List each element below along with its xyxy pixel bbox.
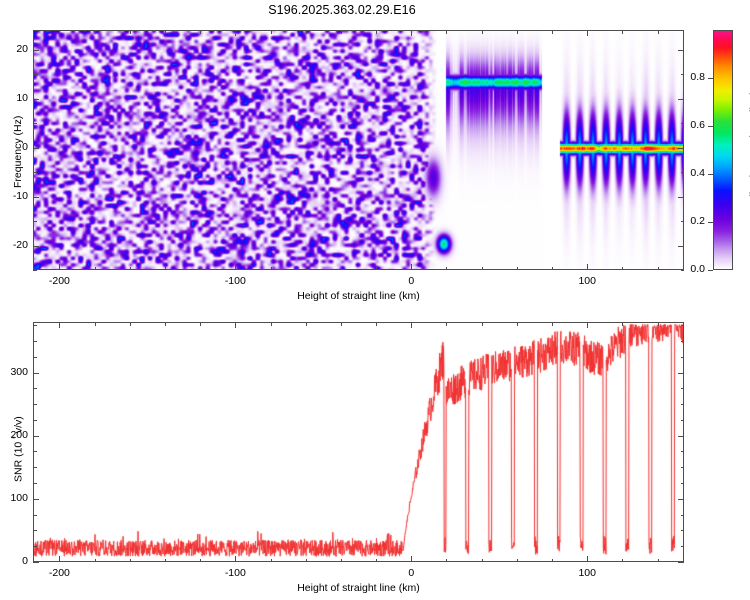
- colorbar-tick: [708, 174, 713, 175]
- snr-plot-area: [33, 322, 684, 562]
- colorbar-tick: [708, 126, 713, 127]
- snr-line-series: [34, 323, 684, 562]
- y-tick-label: -10: [2, 190, 28, 202]
- figure-canvas: S196.2025.363.02.29.E16 -200-1000100-20-…: [0, 0, 750, 600]
- colorbar-tick: [708, 270, 713, 271]
- spectrogram-y-axis-title: Frequency (Hz): [12, 116, 24, 188]
- y-tick-label: 300: [2, 366, 28, 378]
- x-tick-label: 0: [386, 567, 436, 579]
- colorbar-tick-label: 0.2: [683, 215, 705, 227]
- page-title: S196.2025.363.02.29.E16: [0, 3, 684, 17]
- spectrogram-plot-area: [33, 30, 684, 270]
- x-tick-label: 100: [562, 567, 612, 579]
- y-tick-label: 100: [2, 492, 28, 504]
- colorbar-tick-label: 0.0: [683, 263, 705, 275]
- colorbar-tick-label: 0.8: [683, 71, 705, 83]
- x-tick-label: -100: [210, 275, 260, 287]
- x-tick-label: -200: [34, 275, 84, 287]
- colorbar-tick: [708, 78, 713, 79]
- colorbar-tick-label: 0.4: [683, 167, 705, 179]
- x-tick-label: -100: [210, 567, 260, 579]
- y-tick-label: 20: [2, 43, 28, 55]
- spectrogram-x-axis-title: Height of straight line (km): [269, 290, 449, 302]
- colorbar-tick-label: 0.6: [683, 119, 705, 131]
- x-tick-label: -200: [34, 567, 84, 579]
- x-tick-label: 100: [562, 275, 612, 287]
- y-tick-label: 10: [2, 92, 28, 104]
- spectrogram-image: [34, 31, 684, 270]
- colorbar-tick: [708, 222, 713, 223]
- snr-y-axis-title: SNR (10 * v/v): [12, 416, 25, 482]
- colorbar: [713, 30, 733, 270]
- y-tick-label: 0: [2, 555, 28, 567]
- x-tick-label: 0: [386, 275, 436, 287]
- y-tick-label: -20: [2, 239, 28, 251]
- snr-x-axis-title: Height of straight line (km): [269, 582, 449, 594]
